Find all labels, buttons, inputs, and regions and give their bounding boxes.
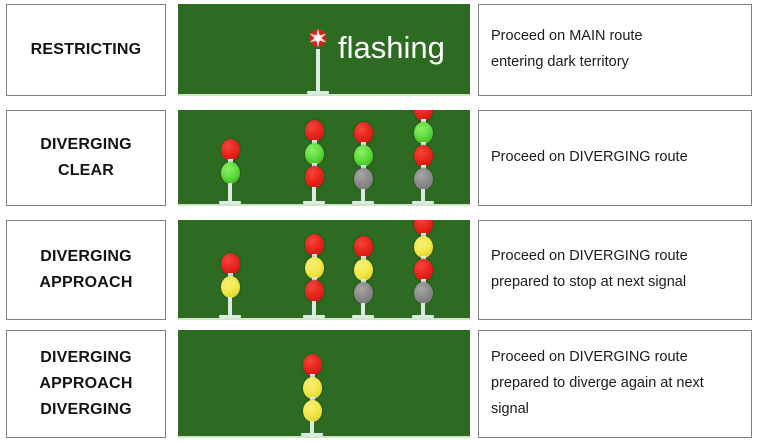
lamp-stack: [308, 27, 328, 49]
signal-aspects-chart: RESTRICTINGflashingProceed on MAIN route…: [0, 0, 758, 442]
mast-pole: [421, 189, 425, 201]
aspect-name-line: DIVERGING: [40, 345, 132, 371]
aspect-description-line: entering dark territory: [491, 50, 739, 76]
lamp-red: [354, 236, 373, 258]
lamp-dark: [414, 168, 433, 190]
lamp-yellow: [305, 257, 324, 279]
mast-pole: [312, 301, 316, 315]
mast-base: [352, 201, 374, 204]
mast-base: [219, 315, 241, 318]
signal-mast: [352, 236, 374, 318]
flashing-caption: flashing: [338, 32, 445, 63]
aspect-name-line: DIVERGING: [40, 244, 132, 270]
mast-base: [303, 201, 325, 204]
lamp-red: [303, 354, 322, 376]
lamp-yellow: [303, 400, 322, 422]
aspect-name-cell: RESTRICTING: [6, 4, 166, 96]
lamp-yellow: [414, 236, 433, 258]
mast-pole: [361, 303, 365, 315]
signal-mast: [219, 139, 241, 204]
lamp-red: [221, 139, 240, 161]
lamp-stack: [221, 139, 240, 183]
mast-pole: [421, 303, 425, 315]
lamp-red: [305, 234, 324, 256]
lamp-stack: [221, 253, 240, 297]
mast-pole: [310, 421, 314, 433]
lamp-green: [354, 145, 373, 167]
aspect-name-cell: DIVERGINGAPPROACHDIVERGING: [6, 330, 166, 438]
signal-diagram-panel: flashing: [178, 4, 470, 96]
signal-diagram-panel: [178, 110, 470, 206]
ground-line: [178, 94, 470, 96]
aspect-description-line: Proceed on DIVERGING route: [491, 244, 739, 270]
signal-mast: [303, 234, 325, 318]
mast-pole: [228, 183, 232, 201]
lamp-green: [305, 143, 324, 165]
lamp-dark: [414, 282, 433, 304]
ground-line: [178, 436, 470, 438]
signal-mast: [352, 122, 374, 204]
aspect-name-cell: DIVERGINGCLEAR: [6, 110, 166, 206]
mast-base: [303, 315, 325, 318]
lamp-red: [414, 259, 433, 281]
mast-base: [412, 315, 434, 318]
lamp-red: [305, 166, 324, 188]
aspect-description-cell: Proceed on DIVERGING route: [478, 110, 752, 206]
aspect-row: DIVERGINGAPPROACHProceed on DIVERGING ro…: [0, 220, 758, 320]
aspect-description-line: prepared to diverge again at next: [491, 371, 739, 397]
aspect-description-cell: Proceed on DIVERGING routeprepared to st…: [478, 220, 752, 320]
aspect-description-line: Proceed on DIVERGING route: [491, 145, 739, 171]
mast-base: [352, 315, 374, 318]
signal-mast: [301, 354, 323, 436]
signal-mast: [303, 120, 325, 204]
signal-diagram-panel: [178, 220, 470, 320]
aspect-description-line: Proceed on MAIN route: [491, 24, 739, 50]
aspect-name-line: DIVERGING: [40, 132, 132, 158]
signal-diagram-panel: [178, 330, 470, 438]
mast-pole: [316, 49, 320, 91]
ground-line: [178, 204, 470, 206]
lamp-stack: [414, 220, 433, 303]
aspect-description-cell: Proceed on DIVERGING routeprepared to di…: [478, 330, 752, 438]
lamp-red: [221, 253, 240, 275]
aspect-name-line: APPROACH: [39, 270, 132, 296]
lamp-yellow: [354, 259, 373, 281]
aspect-name-line: APPROACH: [39, 371, 132, 397]
lamp-green: [414, 122, 433, 144]
lamp-dark: [354, 282, 373, 304]
lamp-stack: [354, 236, 373, 303]
lamp-stack: [305, 120, 324, 187]
aspect-row: RESTRICTINGflashingProceed on MAIN route…: [0, 4, 758, 96]
lamp-yellow: [221, 276, 240, 298]
mast-pole: [228, 297, 232, 315]
aspect-name-line: DIVERGING: [40, 397, 132, 423]
aspect-description-cell: Proceed on MAIN routeentering dark terri…: [478, 4, 752, 96]
signal-mast: [412, 220, 434, 318]
signal-mast: [219, 253, 241, 318]
aspect-row: DIVERGINGCLEARProceed on DIVERGING route: [0, 110, 758, 206]
aspect-row: DIVERGINGAPPROACHDIVERGINGProceed on DIV…: [0, 330, 758, 438]
mast-base: [307, 91, 329, 94]
signal-mast: [307, 27, 329, 94]
lamp-dark: [354, 168, 373, 190]
flashing-red-lamp: [308, 27, 328, 49]
mast-pole: [312, 187, 316, 201]
lamp-stack: [414, 110, 433, 189]
mast-pole: [361, 189, 365, 201]
lamp-stack: [305, 234, 324, 301]
lamp-red: [414, 145, 433, 167]
lamp-red: [305, 120, 324, 142]
aspect-description-line: signal: [491, 397, 739, 423]
lamp-stack: [354, 122, 373, 189]
aspect-description-line: prepared to stop at next signal: [491, 270, 739, 296]
signal-mast: [412, 110, 434, 204]
aspect-description-line: Proceed on DIVERGING route: [491, 345, 739, 371]
lamp-stack: [303, 354, 322, 421]
aspect-name-line: CLEAR: [58, 158, 114, 184]
mast-base: [412, 201, 434, 204]
mast-base: [219, 201, 241, 204]
lamp-red: [305, 280, 324, 302]
aspect-name-line: RESTRICTING: [31, 37, 142, 63]
ground-line: [178, 318, 470, 320]
lamp-green: [221, 162, 240, 184]
lamp-red: [354, 122, 373, 144]
aspect-name-cell: DIVERGINGAPPROACH: [6, 220, 166, 320]
mast-base: [301, 433, 323, 436]
lamp-yellow: [303, 377, 322, 399]
